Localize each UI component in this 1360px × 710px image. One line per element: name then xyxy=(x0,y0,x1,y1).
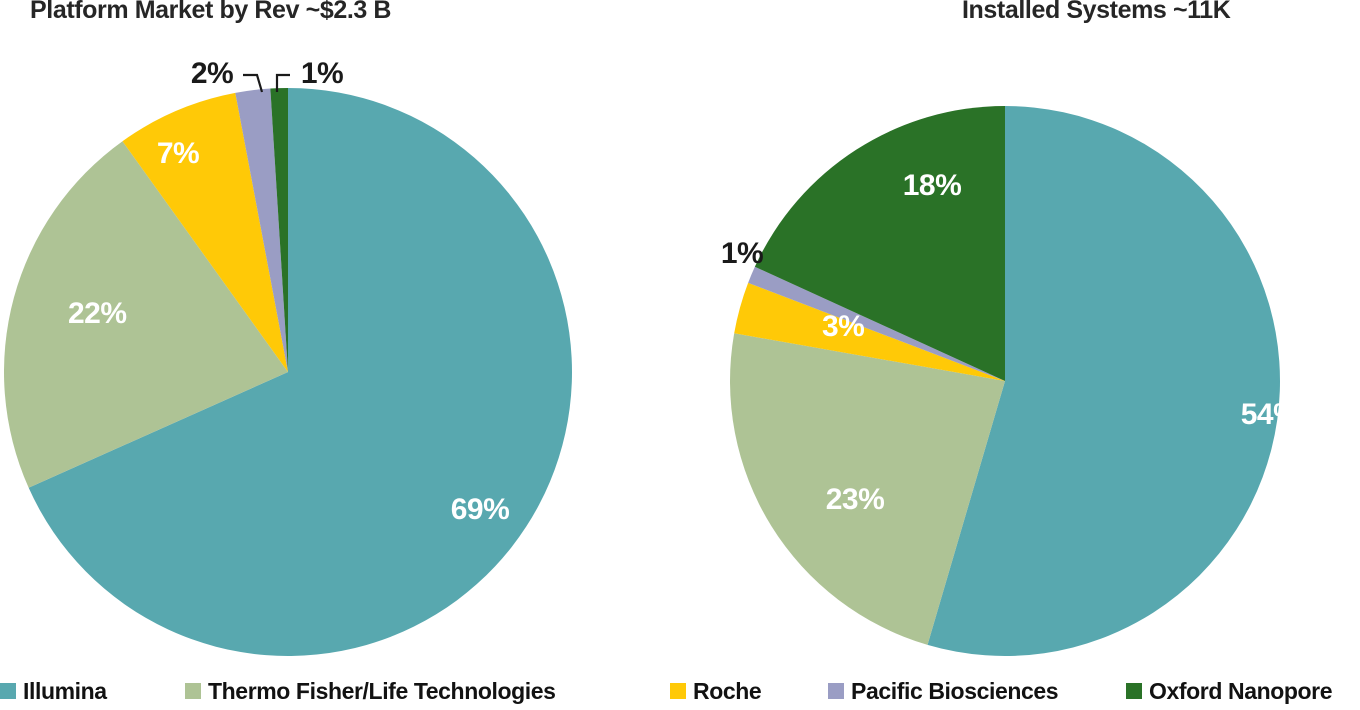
pie-slices-right xyxy=(730,106,1280,656)
pie-svg-right: 54%23%3%1%18% xyxy=(700,0,1360,680)
pie-slices-left xyxy=(4,88,572,656)
pie-slice-value-label: 1% xyxy=(301,57,343,90)
chart-legend: IlluminaThermo Fisher/Life TechnologiesR… xyxy=(0,672,1360,710)
legend-item-label: Illumina xyxy=(23,678,107,705)
pie-chart-figure: Platform Market by Rev ~$2.3 B Installed… xyxy=(0,0,1360,710)
pie-label-leader-line xyxy=(243,75,262,92)
pie-chart-installed-systems: 54%23%3%1%18% xyxy=(700,0,1360,680)
legend-swatch-icon xyxy=(185,683,201,699)
pie-slice-value-label: 22% xyxy=(68,297,127,330)
legend-item-label: Oxford Nanopore xyxy=(1149,678,1332,705)
legend-swatch-icon xyxy=(828,683,844,699)
pie-slice-value-label: 2% xyxy=(191,57,233,90)
legend-swatch-icon xyxy=(0,683,16,699)
pie-slice-value-label: 23% xyxy=(826,483,885,516)
legend-item-label: Thermo Fisher/Life Technologies xyxy=(208,678,556,705)
pie-slice-value-label: 69% xyxy=(451,493,510,526)
pie-slice-value-label: 18% xyxy=(903,169,962,202)
pie-slice-value-label: 7% xyxy=(157,137,199,170)
legend-swatch-icon xyxy=(670,683,686,699)
legend-item-label: Pacific Biosciences xyxy=(851,678,1058,705)
legend-item[interactable]: Illumina xyxy=(0,672,107,710)
pie-chart-platform-market: 69%22%7%2%1% xyxy=(0,0,680,680)
pie-slice-value-label: 3% xyxy=(822,310,864,343)
pie-slice-value-label: 54% xyxy=(1241,398,1300,431)
legend-item-label: Roche xyxy=(693,678,761,705)
legend-item[interactable]: Oxford Nanopore xyxy=(1126,672,1332,710)
legend-item[interactable]: Roche xyxy=(670,672,761,710)
pie-svg-left: 69%22%7%2%1% xyxy=(0,0,680,680)
legend-item[interactable]: Pacific Biosciences xyxy=(828,672,1058,710)
legend-item[interactable]: Thermo Fisher/Life Technologies xyxy=(185,672,556,710)
legend-swatch-icon xyxy=(1126,683,1142,699)
pie-slice-value-label: 1% xyxy=(721,237,763,270)
